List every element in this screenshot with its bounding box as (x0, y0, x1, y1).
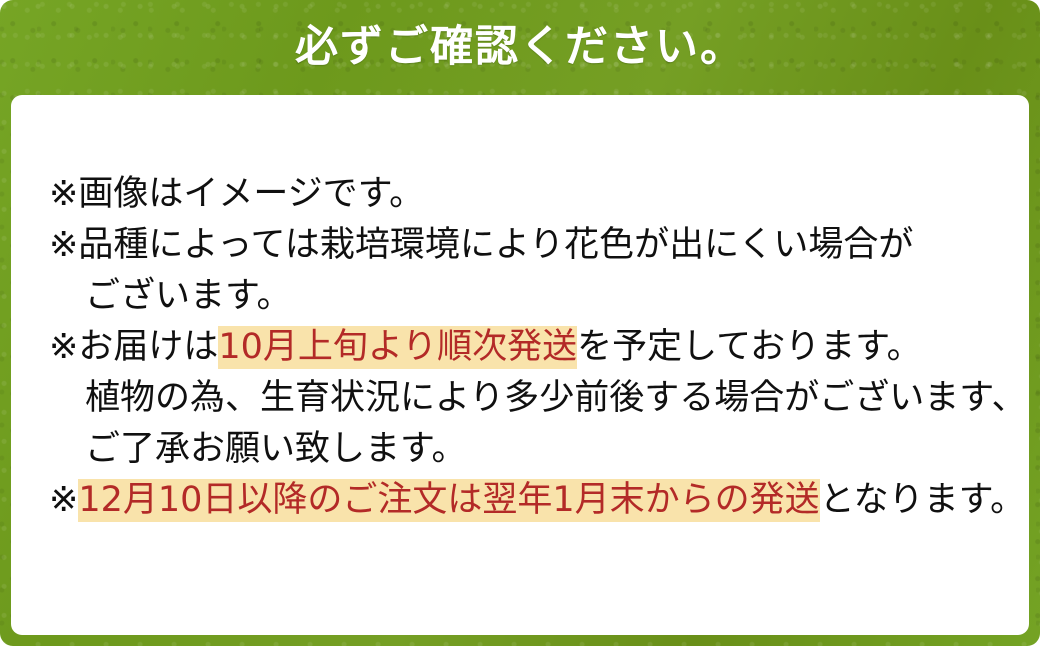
line-2-segment-0: ※品種によっては栽培環境により花色が出にくい場合が (49, 225, 913, 265)
line-5-segment-0: 植物の為、生育状況により多少前後する場合がございます、 (85, 378, 1027, 418)
line-5: 植物の為、生育状況により多少前後する場合がございます、 (49, 373, 1011, 424)
notice-text-block: ※画像はイメージです。※品種によっては栽培環境により花色が出にくい場合がございま… (49, 169, 1011, 526)
line-2: ※品種によっては栽培環境により花色が出にくい場合が (49, 220, 1011, 271)
line-7: ※12月10日以降のご注文は翌年1月末からの発送となります。 (49, 475, 1011, 526)
line-3: ございます。 (49, 271, 1011, 322)
line-4-highlight: 10月上旬より順次発送 (218, 326, 577, 369)
line-6: ご了承お願い致します。 (49, 424, 1011, 475)
line-4-segment-0: ※お届けは (49, 327, 218, 367)
notice-card: 必ずご確認ください。 ※画像はイメージです。※品種によっては栽培環境により花色が… (0, 0, 1040, 646)
line-3-segment-0: ございます。 (85, 276, 292, 316)
line-1-segment-0: ※画像はイメージです。 (49, 174, 424, 214)
notice-title: 必ずご確認ください。 (295, 26, 745, 69)
line-4-segment-2: を予定しております。 (577, 327, 921, 367)
line-4: ※お届けは10月上旬より順次発送を予定しております。 (49, 322, 1011, 373)
line-7-segment-0: ※ (49, 480, 78, 520)
line-7-highlight: 12月10日以降のご注文は翌年1月末からの発送 (78, 479, 819, 522)
notice-content-panel: ※画像はイメージです。※品種によっては栽培環境により花色が出にくい場合がございま… (11, 95, 1029, 635)
line-1: ※画像はイメージです。 (49, 169, 1011, 220)
notice-header-band: 必ずご確認ください。 (0, 0, 1040, 95)
line-6-segment-0: ご了承お願い致します。 (85, 429, 467, 469)
line-7-segment-2: となります。 (820, 480, 1025, 520)
